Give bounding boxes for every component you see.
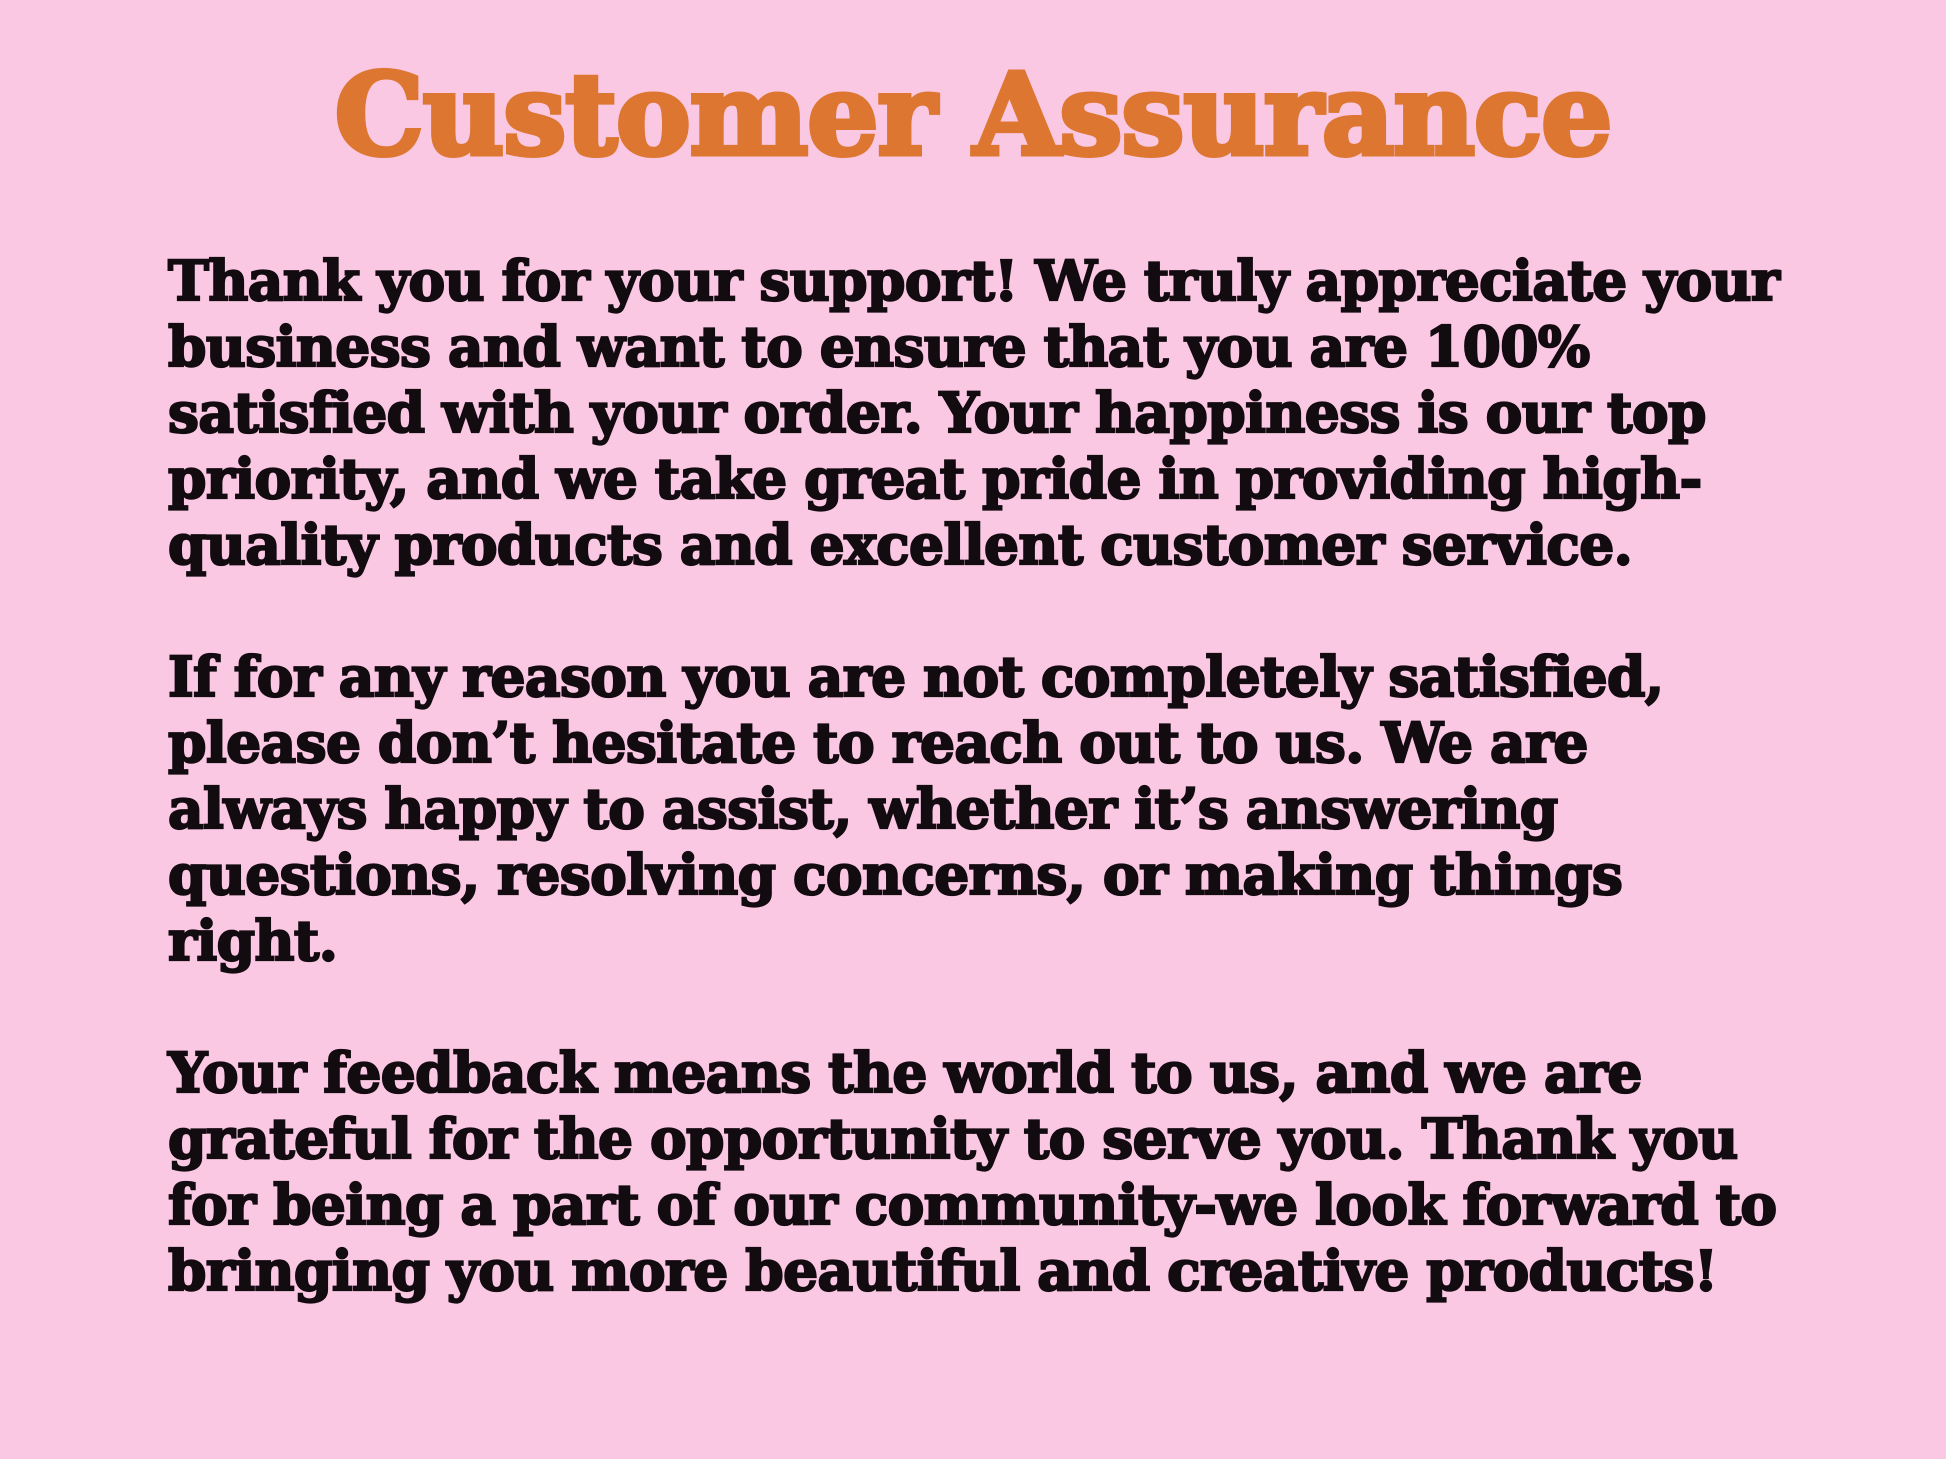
- body-text-block: Thank you for your support! We truly app…: [168, 248, 1788, 1304]
- paragraph-gratitude: Your feedback means the world to us, and…: [168, 1040, 1788, 1304]
- paragraph-support: If for any reason you are not completely…: [168, 644, 1788, 974]
- page-title: Customer Assurance: [0, 56, 1946, 177]
- paragraph-appreciation: Thank you for your support! We truly app…: [168, 248, 1788, 578]
- customer-assurance-poster: Customer Assurance Thank you for your su…: [0, 0, 1946, 1459]
